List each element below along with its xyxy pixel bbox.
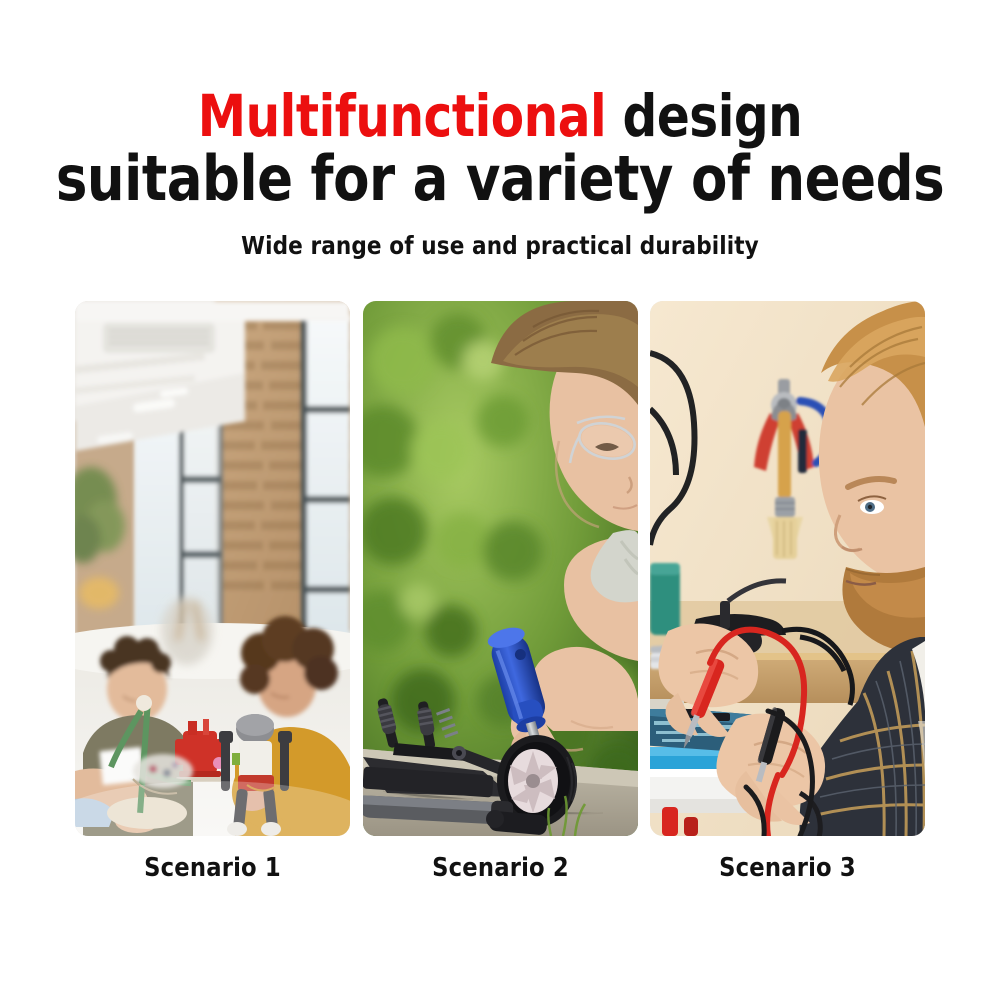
headline-line-1: Multifunctional design bbox=[35, 88, 965, 145]
scenario-caption-3: Scenario 3 bbox=[654, 853, 921, 889]
scenario-gallery bbox=[75, 301, 925, 836]
scenario-captions: Scenario 1 Scenario 2 Scenario 3 bbox=[75, 853, 925, 889]
boy-repairing-rc-car-with-blue-screwdriver-image bbox=[363, 301, 638, 836]
headline-rest: design bbox=[606, 82, 802, 150]
page-subtitle: Wide range of use and practical durabili… bbox=[20, 231, 980, 260]
page-title: Multifunctional design suitable for a va… bbox=[0, 88, 1000, 210]
scenario-photo-2 bbox=[363, 301, 638, 836]
promo-banner: Multifunctional design suitable for a va… bbox=[0, 0, 1000, 1000]
children-building-robot-kits-at-table-image bbox=[75, 301, 350, 836]
scenario-caption-1: Scenario 1 bbox=[79, 853, 346, 889]
headline-highlight: Multifunctional bbox=[198, 82, 606, 150]
scenario-caption-2: Scenario 2 bbox=[367, 853, 634, 889]
man-testing-circuit-board-with-multimeter-probes-image bbox=[650, 301, 925, 836]
scenario-photo-3 bbox=[650, 301, 925, 836]
headline-line-2: suitable for a variety of needs bbox=[25, 149, 975, 210]
scenario-photo-1 bbox=[75, 301, 350, 836]
